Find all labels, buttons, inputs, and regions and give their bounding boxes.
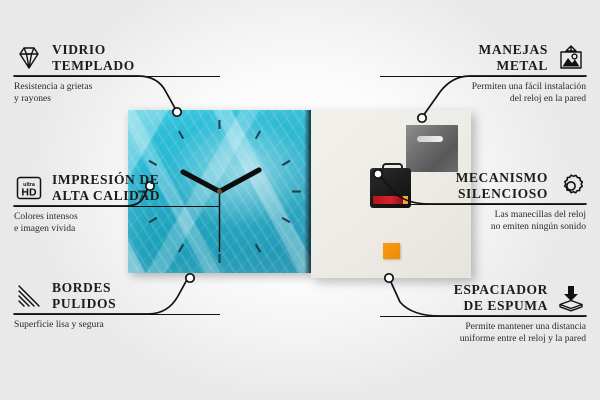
divider [14,76,220,77]
feature-header: ESPACIADOR DE ESPUMA [380,282,586,313]
connector-dot-espaciador [385,274,393,282]
infographic-canvas: VIDRIO TEMPLADO Resistencia a grietas y … [0,0,600,400]
connector-dot-manejas [418,114,426,122]
feature-header: ultra HD IMPRESIÓN DE ALTA CALIDAD [14,172,220,203]
feature-manejas-metal: MANEJAS METAL Permiten una fácil instala… [380,42,586,104]
feature-title: MANEJAS METAL [479,42,548,73]
feature-description: Superficie lisa y segura [14,319,220,331]
feature-header: MANEJAS METAL [380,42,586,73]
feature-impresion-alta-calidad: ultra HD IMPRESIÓN DE ALTA CALIDAD Color… [14,172,220,234]
svg-text:HD: HD [21,186,37,198]
divider [14,206,220,207]
polished-edge-icon [14,281,44,311]
foam-spacer-arrow-icon [556,283,586,313]
feature-title: VIDRIO TEMPLADO [52,42,135,73]
feature-vidrio-templado: VIDRIO TEMPLADO Resistencia a grietas y … [14,42,220,104]
divider [14,314,220,315]
feature-title: ESPACIADOR DE ESPUMA [454,282,548,313]
feature-header: VIDRIO TEMPLADO [14,42,220,73]
divider [380,204,586,205]
feature-title: BORDES PULIDOS [52,280,116,311]
feature-description: Las manecillas del reloj no emiten ningú… [380,209,586,232]
feature-description: Resistencia a grietas y rayones [14,81,220,104]
divider [380,76,586,77]
connector-dot-vidrio [173,108,181,116]
feature-header: BORDES PULIDOS [14,280,220,311]
feature-title: MECANISMO SILENCIOSO [456,170,548,201]
diamond-icon [14,43,44,73]
feature-espaciador-de-espuma: ESPACIADOR DE ESPUMA Permite mantener un… [380,282,586,344]
feature-mecanismo-silencioso: MECANISMO SILENCIOSO Las manecillas del … [380,170,586,232]
feature-bordes-pulidos: BORDES PULIDOS Superficie lisa y segura [14,280,220,331]
framed-picture-hanger-icon [556,43,586,73]
feature-description: Permiten una fácil instalación del reloj… [380,81,586,104]
feature-description: Colores intensos e imagen vívida [14,211,220,234]
gear-icon [556,171,586,201]
divider [380,316,586,317]
ultra-hd-icon: ultra HD [14,173,44,203]
feature-header: MECANISMO SILENCIOSO [380,170,586,201]
feature-title: IMPRESIÓN DE ALTA CALIDAD [52,172,160,203]
feature-description: Permite mantener una distancia uniforme … [380,321,586,344]
